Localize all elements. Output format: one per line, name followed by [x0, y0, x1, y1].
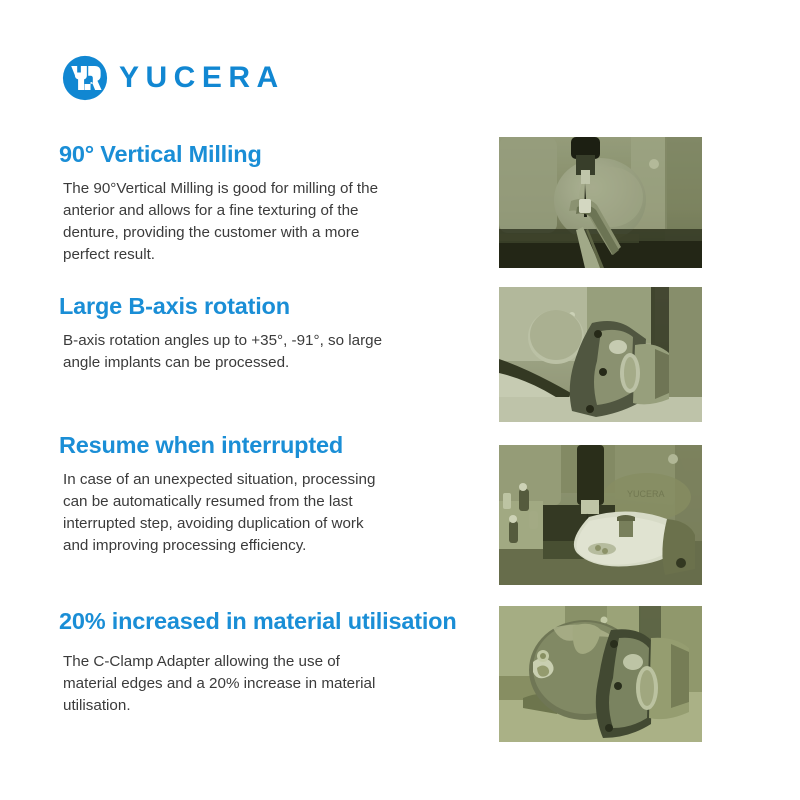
- feature-block-b-axis-rotation: Large B-axis rotation B-axis rotation an…: [59, 293, 489, 374]
- feature-block-vertical-milling: 90° Vertical Milling The 90°Vertical Mil…: [59, 141, 489, 265]
- feature-title: 20% increased in material utilisation: [59, 608, 489, 634]
- feature-photo-resume-when-interrupted: YUCERA: [499, 445, 702, 585]
- feature-title: 90° Vertical Milling: [59, 141, 489, 167]
- brand-logo: YUCERA: [62, 55, 285, 101]
- feature-title: Large B-axis rotation: [59, 293, 489, 319]
- feature-block-material-utilisation: 20% increased in material utilisation Th…: [59, 608, 489, 717]
- feature-block-resume-when-interrupted: Resume when interrupted In case of an un…: [59, 432, 489, 556]
- feature-photo-vertical-milling: [499, 137, 702, 268]
- feature-photo-b-axis-rotation: [499, 287, 702, 422]
- feature-body: The C-Clamp Adapter allowing the use of …: [63, 651, 393, 716]
- feature-body: B-axis rotation angles up to +35°, -91°,…: [63, 330, 393, 373]
- feature-title: Resume when interrupted: [59, 432, 489, 458]
- brand-wordmark: YUCERA: [119, 63, 285, 93]
- feature-body: The 90°Vertical Milling is good for mill…: [63, 178, 388, 265]
- feature-body: In case of an unexpected situation, proc…: [63, 469, 388, 556]
- yucera-yr-monogram-icon: [62, 55, 108, 101]
- feature-photo-c-clamp-adapter: [499, 606, 702, 742]
